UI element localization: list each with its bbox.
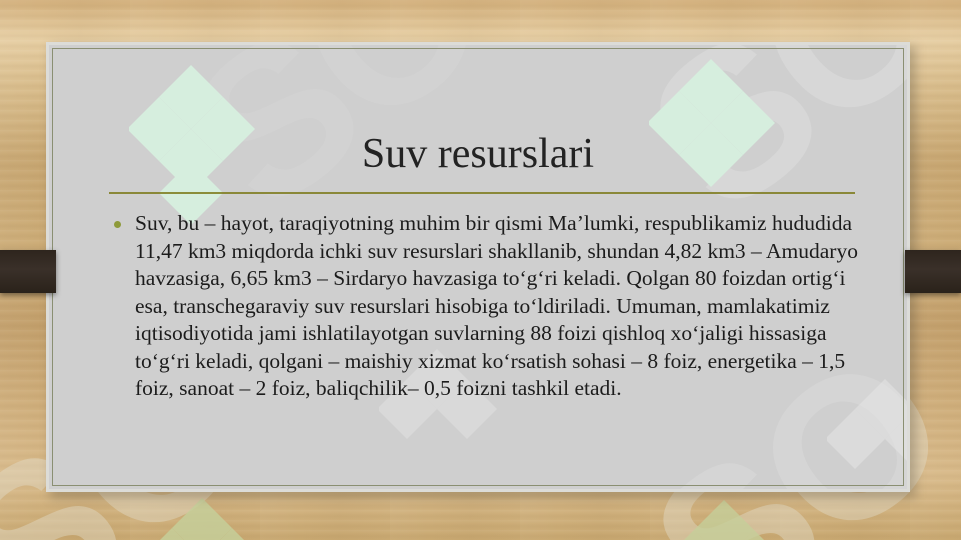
bullet-list: Suv, bu – hayot, taraqiyotning muhim bir… [107, 210, 867, 403]
slide-content: Suv resurslari Suv, bu – hayot, taraqiyo… [49, 45, 907, 489]
slide-stage: SO SO SO SO SO [0, 0, 961, 540]
left-accent-bar [0, 250, 56, 293]
title-divider [109, 192, 855, 194]
angular-s-logo-icon-wood-bottom-right [672, 500, 782, 540]
list-item: Suv, bu – hayot, taraqiyotning muhim bir… [107, 210, 867, 403]
body-text-block: Suv, bu – hayot, taraqiyotning muhim bir… [107, 210, 867, 403]
right-accent-bar [905, 250, 961, 293]
angular-s-logo-icon-wood-bottom-left [150, 498, 260, 540]
page-title: Suv resurslari [49, 131, 907, 177]
slide-panel: SO SO SO [46, 42, 910, 492]
